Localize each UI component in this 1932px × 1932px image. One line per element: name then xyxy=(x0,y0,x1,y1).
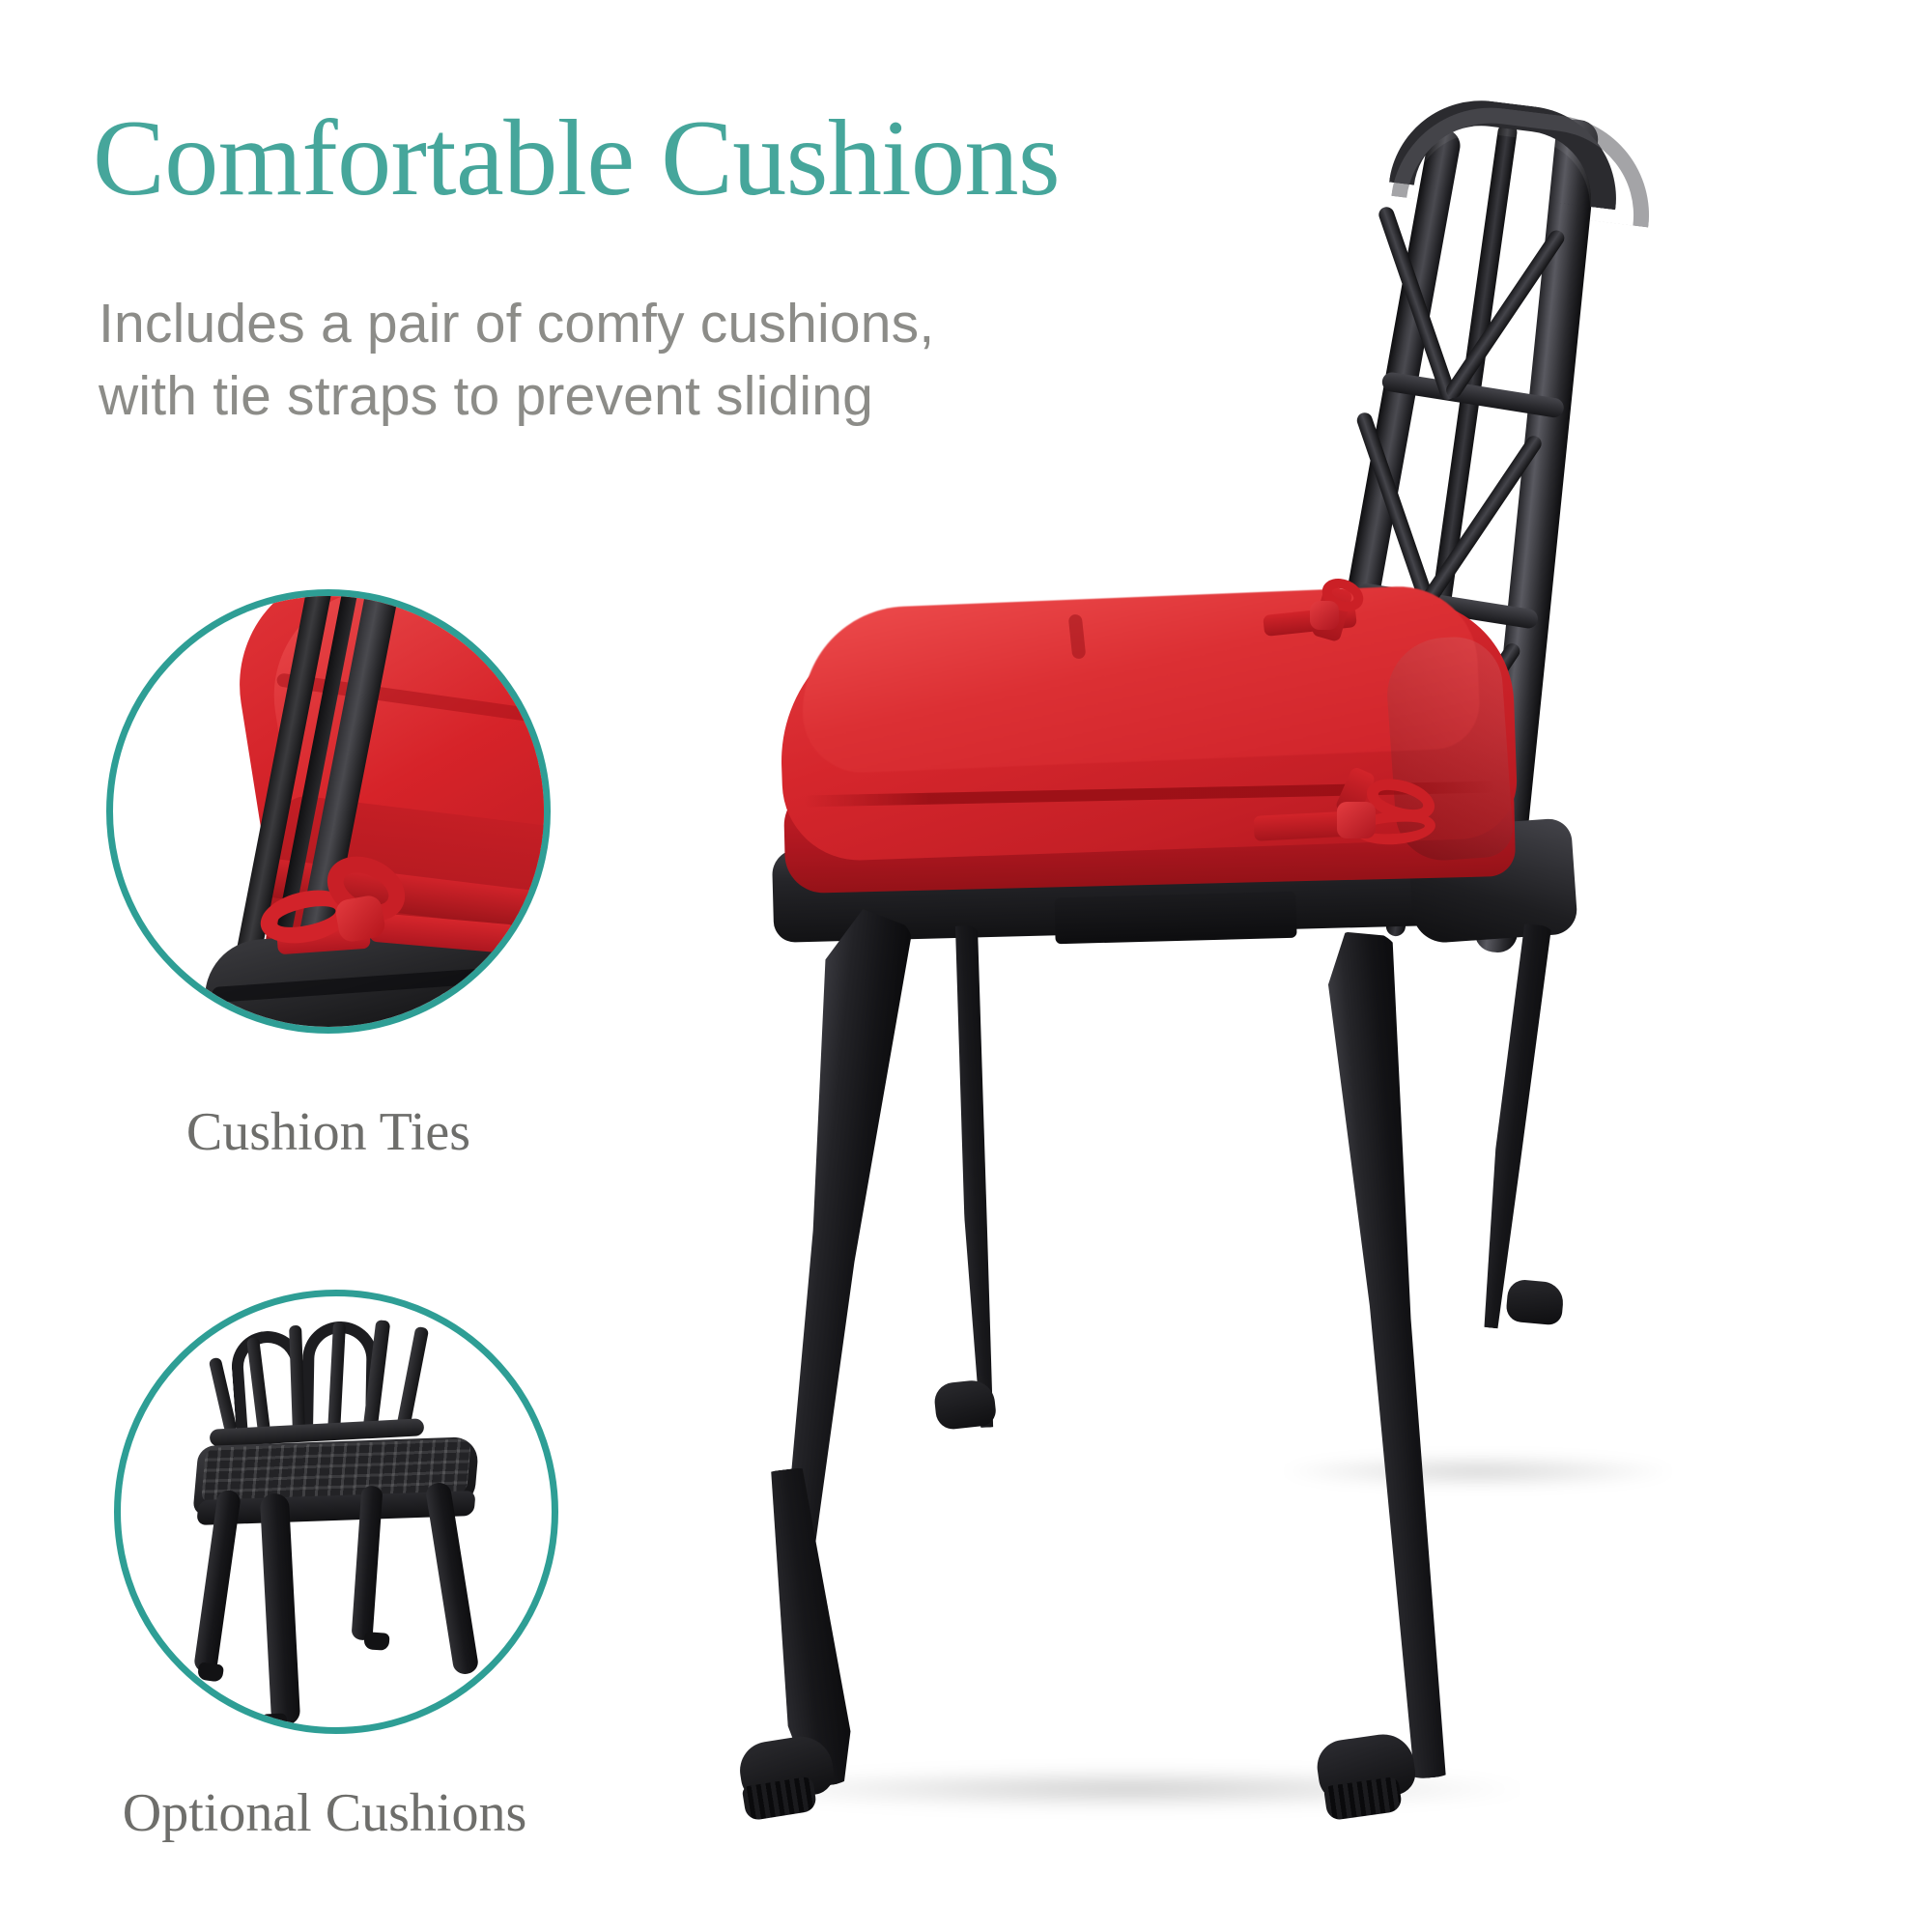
cushion-tie-bow xyxy=(254,853,476,979)
chair-back-spoke-3 xyxy=(289,1325,305,1434)
tie-lower-knot xyxy=(1337,802,1376,838)
callout-caption-cushion-ties: Cushion Ties xyxy=(77,1101,580,1163)
chair-leg-mid xyxy=(939,924,1009,1429)
backrest-top-cap xyxy=(1389,90,1627,210)
chair-leg-back-left xyxy=(260,1492,301,1725)
tie-upper-knot xyxy=(1310,601,1339,630)
bare-chair-photo xyxy=(121,1296,552,1727)
hero-floor-shadow-rear xyxy=(1275,1455,1681,1488)
cushion-tie-lower xyxy=(1254,763,1476,879)
chair-foot-3 xyxy=(363,1632,389,1651)
callout-optional-cushions xyxy=(114,1290,558,1734)
chair-leg-rear xyxy=(1316,927,1472,1781)
chair-leg-rear-far xyxy=(1466,922,1561,1330)
callout-circle-frame-optional-cushions xyxy=(114,1290,558,1734)
cushion-tie-upper xyxy=(1264,578,1437,684)
chair-foot-2 xyxy=(262,1713,288,1731)
chair-leg-mid-foot xyxy=(933,1378,998,1431)
callout-caption-optional-cushions: Optional Cushions xyxy=(73,1782,576,1844)
seat-frame-center-tab xyxy=(1054,892,1296,945)
chair-leg-rear-far-foot xyxy=(1505,1279,1565,1326)
hero-chair-photo xyxy=(676,97,1913,1864)
product-feature-canvas: Comfortable Cushions Includes a pair of … xyxy=(0,0,1932,1932)
callout-cushion-ties xyxy=(106,589,551,1034)
callout-circle-frame-cushion-ties xyxy=(106,589,551,1034)
cushion-tie-photo xyxy=(109,592,548,1031)
chair-foot-1 xyxy=(197,1662,224,1682)
